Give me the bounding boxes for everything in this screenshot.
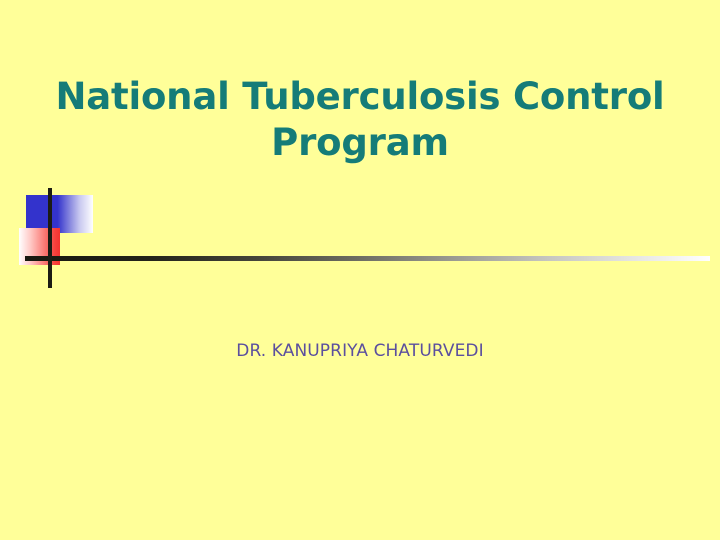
vertical-rule-icon [48, 188, 52, 288]
horizontal-rule-icon [25, 256, 710, 261]
presenter-name: DR. KANUPRIYA CHATURVEDI [40, 340, 680, 363]
slide-canvas: National Tuberculosis Control Program DR… [0, 0, 720, 540]
decorative-graphic [0, 180, 720, 295]
page-title: National Tuberculosis Control Program [40, 74, 680, 166]
title-placeholder: National Tuberculosis Control Program [40, 74, 680, 166]
subtitle-placeholder: DR. KANUPRIYA CHATURVEDI [40, 340, 680, 363]
